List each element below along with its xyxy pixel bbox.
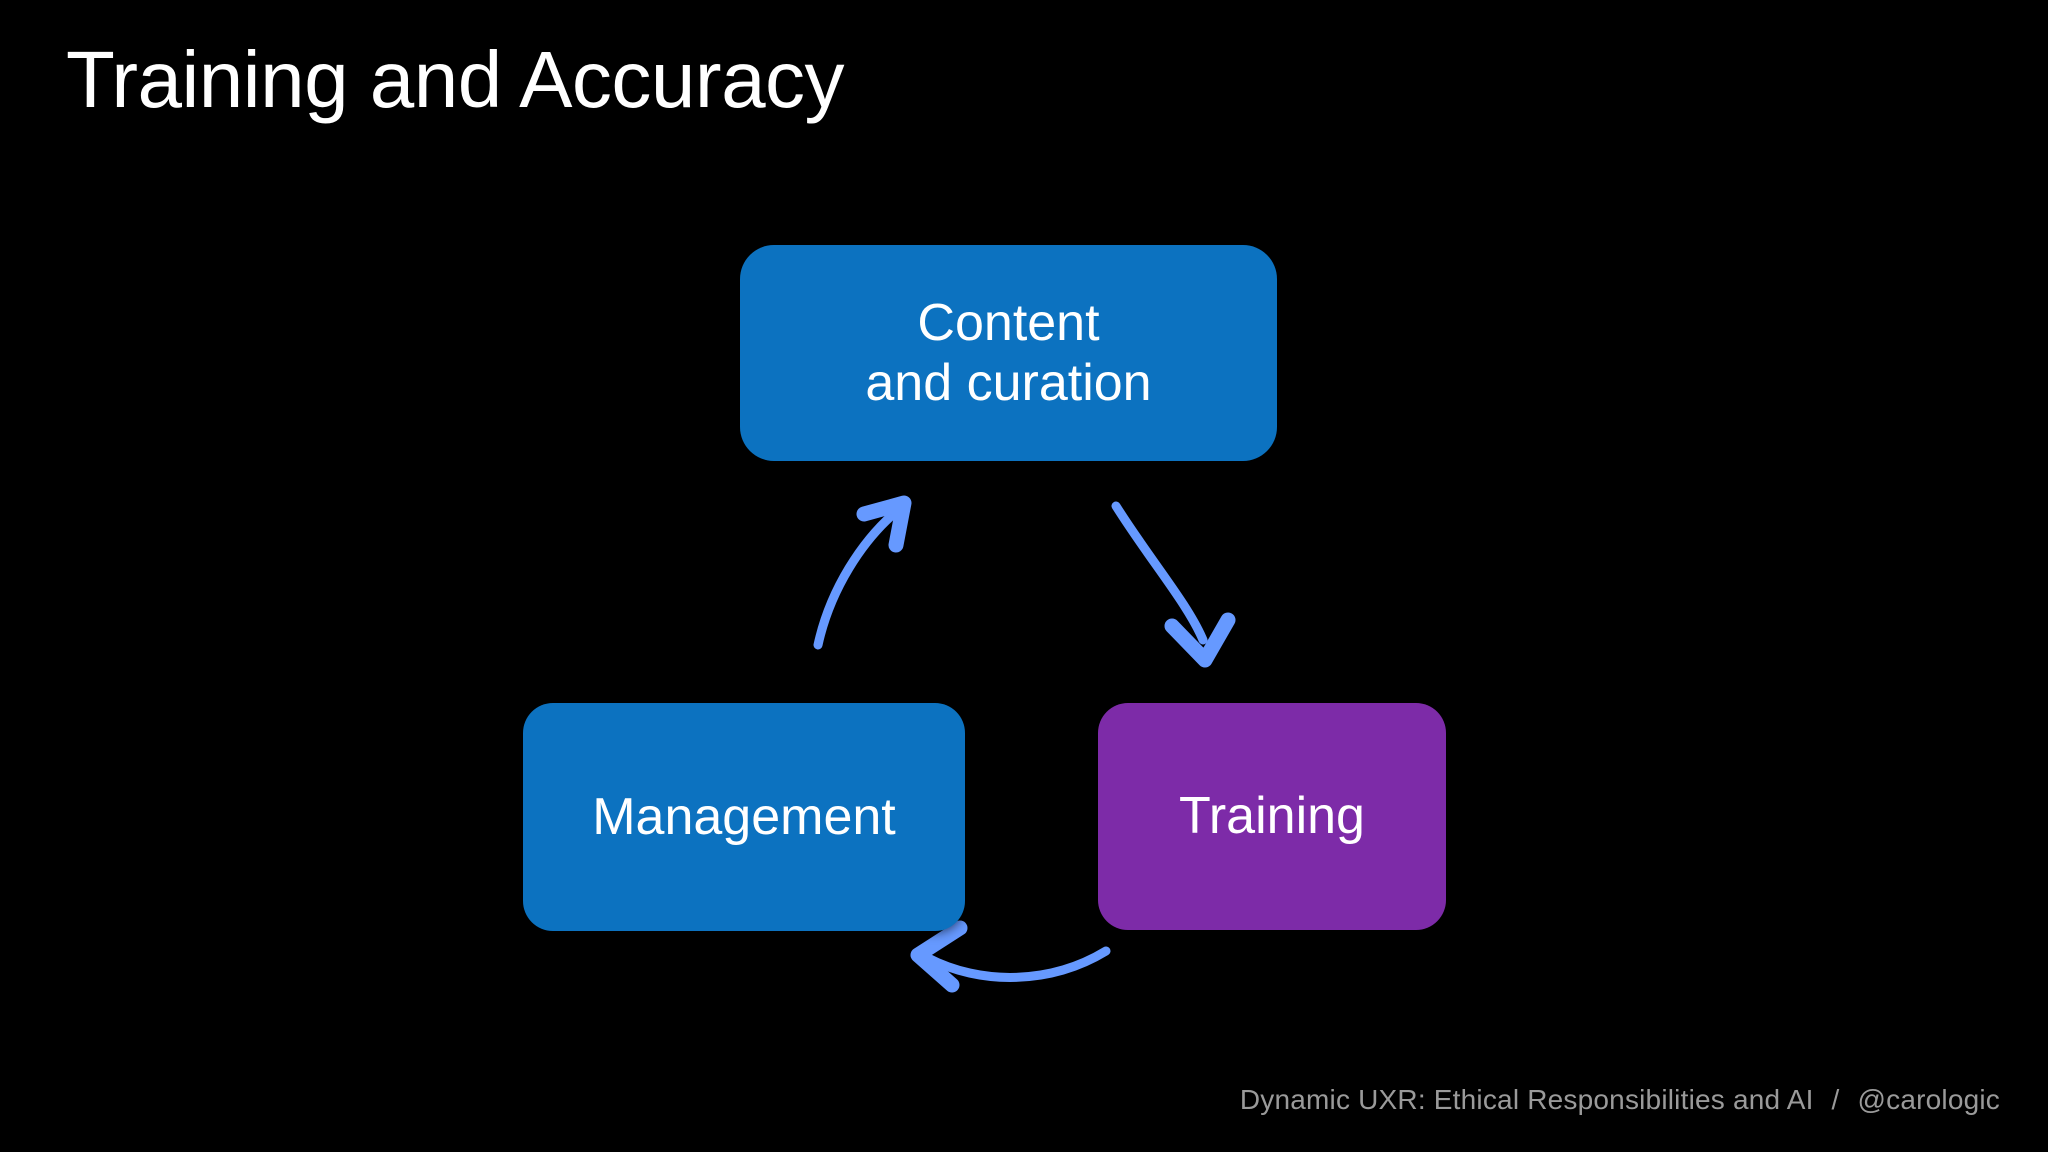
diagram-node-management[interactable]: Management (523, 703, 965, 931)
diagram-node-training[interactable]: Training (1098, 703, 1446, 930)
arrow-management-to-content (818, 503, 904, 645)
footer-separator: / (1822, 1084, 1850, 1115)
footer-handle: @carologic (1858, 1084, 2000, 1115)
diagram-node-label: Content and curation (865, 293, 1151, 414)
arrows-layer (0, 0, 2048, 1152)
footer-talk-title: Dynamic UXR: Ethical Responsibilities an… (1240, 1084, 1814, 1115)
diagram-node-label: Training (1179, 786, 1365, 846)
slide-canvas: Training and Accuracy Con (0, 0, 2048, 1152)
diagram-node-content-and-curation[interactable]: Content and curation (740, 245, 1277, 461)
arrow-training-to-management (918, 928, 1106, 985)
diagram-node-label: Management (592, 787, 896, 847)
slide-footer: Dynamic UXR: Ethical Responsibilities an… (1240, 1084, 2000, 1116)
cycle-diagram: Content and curation Management Training (0, 0, 2048, 1152)
arrow-content-to-training (1116, 506, 1228, 660)
